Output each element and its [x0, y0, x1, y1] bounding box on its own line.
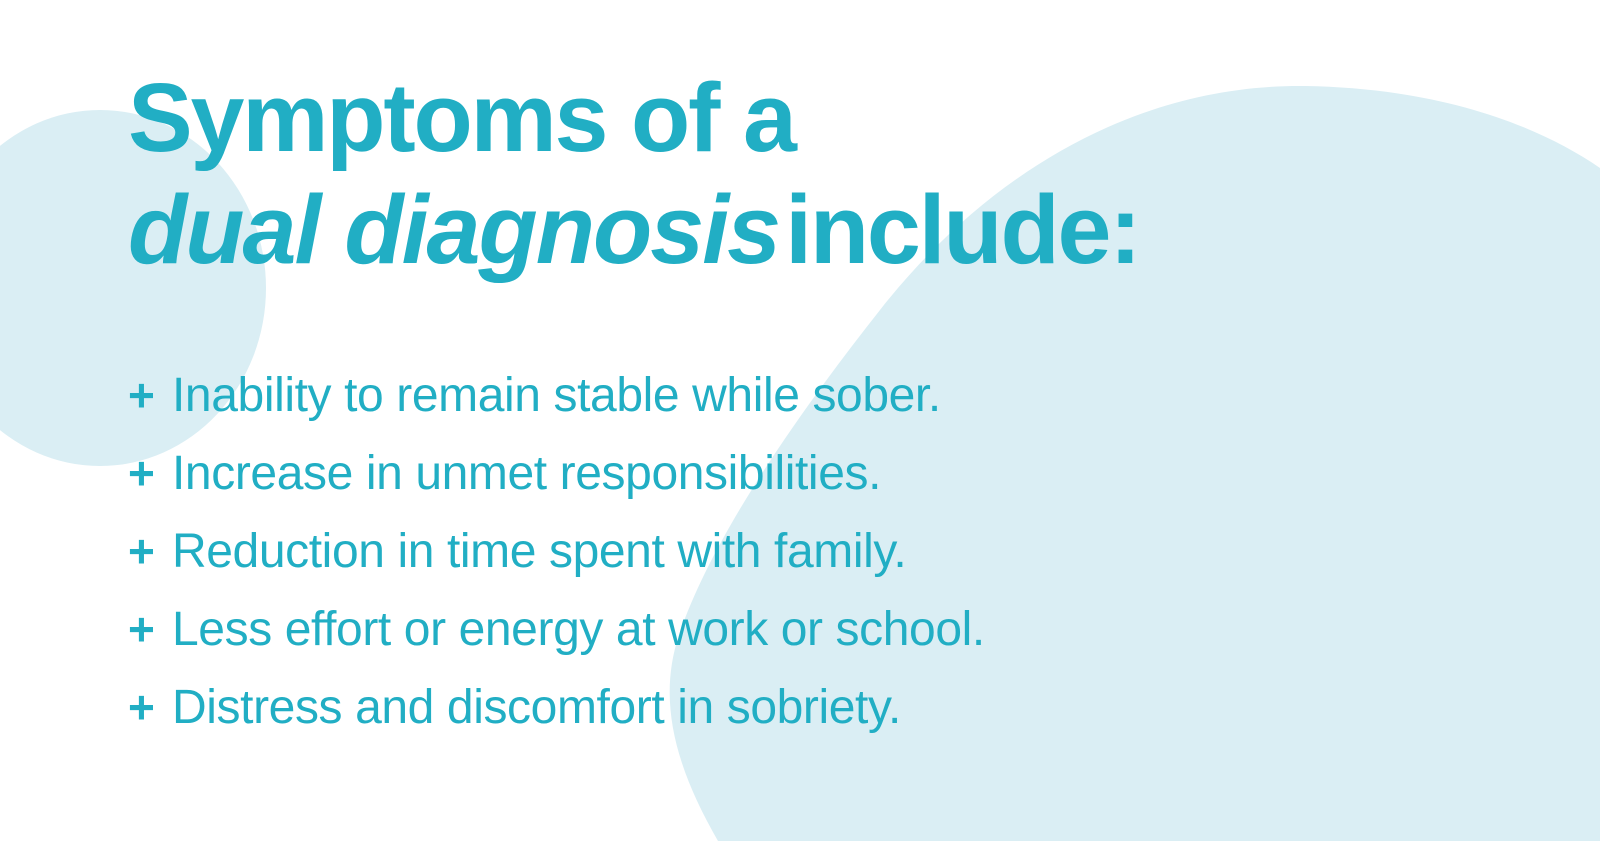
list-item: + Increase in unmet responsibilities.: [128, 450, 1468, 528]
list-item: + Less effort or energy at work or schoo…: [128, 606, 1468, 684]
list-item-label: Reduction in time spent with family.: [172, 528, 906, 576]
symptom-list: + Inability to remain stable while sober…: [128, 372, 1468, 762]
heading-line-1-text: Symptoms of a: [128, 63, 795, 172]
plus-icon: +: [128, 606, 172, 652]
plus-icon: +: [128, 450, 172, 496]
heading-line-1: Symptoms of a: [128, 62, 1428, 174]
page-title: Symptoms of a dual diagnosisinclude:: [128, 62, 1428, 286]
plus-icon: +: [128, 684, 172, 730]
heading-line-2: dual diagnosisinclude:: [128, 174, 1428, 286]
list-item-label: Less effort or energy at work or school.: [172, 606, 985, 654]
heading-line-2-rest: include:: [785, 175, 1139, 284]
plus-icon: +: [128, 528, 172, 574]
slide-content: Symptoms of a dual diagnosisinclude: + I…: [0, 0, 1600, 841]
list-item: + Inability to remain stable while sober…: [128, 372, 1468, 450]
heading-emphasis-dual-diagnosis: dual diagnosis: [128, 175, 785, 284]
plus-icon: +: [128, 372, 172, 418]
list-item-label: Distress and discomfort in sobriety.: [172, 684, 901, 732]
list-item-label: Increase in unmet responsibilities.: [172, 450, 881, 498]
list-item: + Reduction in time spent with family.: [128, 528, 1468, 606]
list-item-label: Inability to remain stable while sober.: [172, 372, 941, 420]
slide-canvas: Symptoms of a dual diagnosisinclude: + I…: [0, 0, 1600, 841]
list-item: + Distress and discomfort in sobriety.: [128, 684, 1468, 762]
